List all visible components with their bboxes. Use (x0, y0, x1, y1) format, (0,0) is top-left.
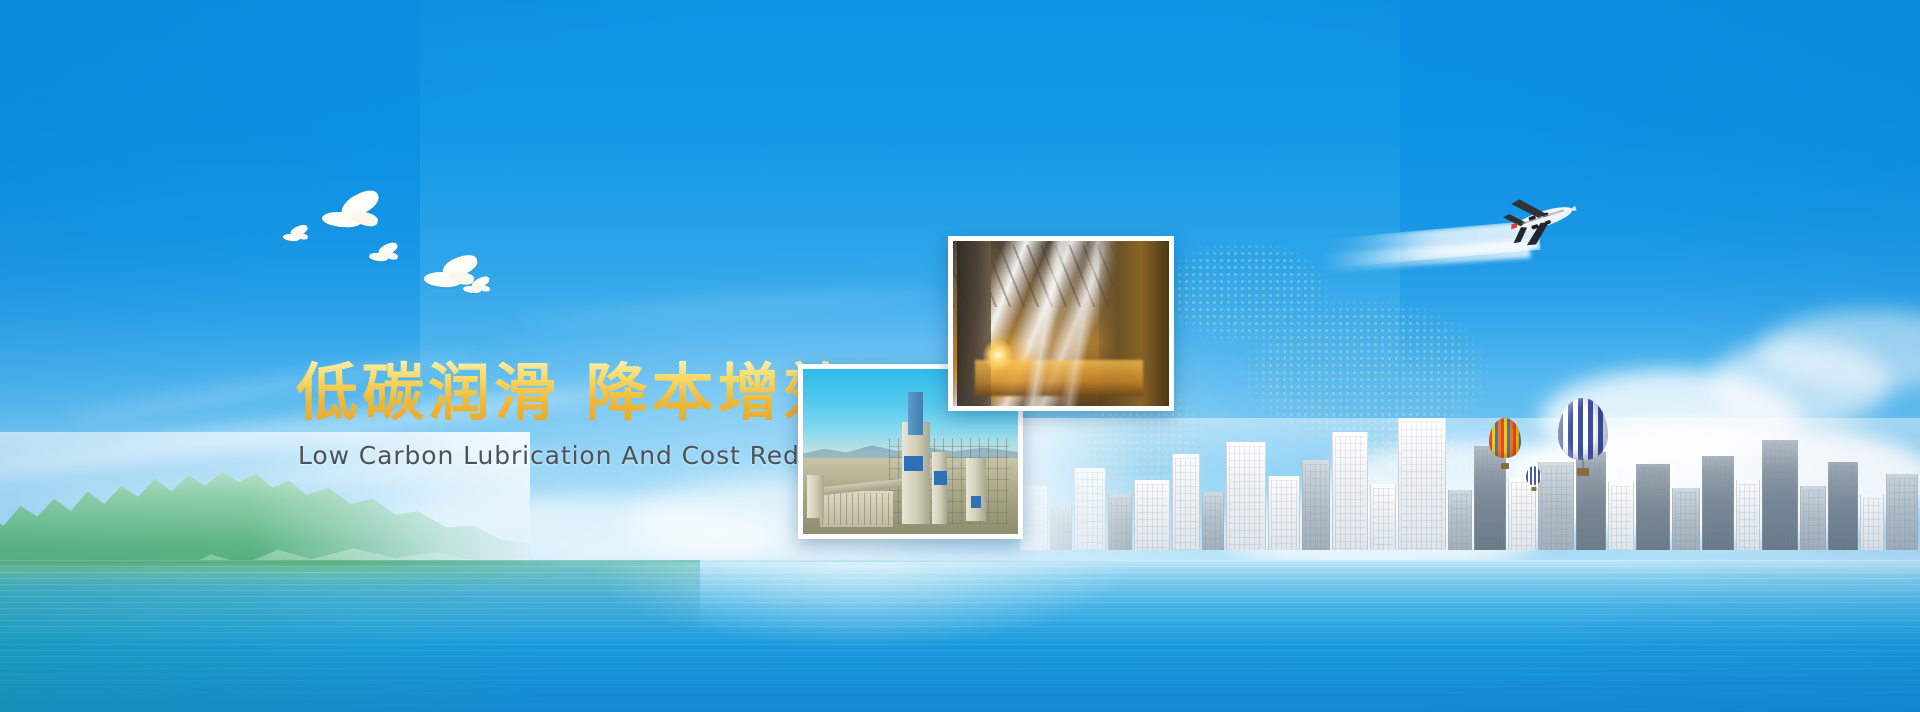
hero-banner: 低碳润滑 降本增效 低碳润滑 降本增效 Low Carbon Lubricati… (0, 0, 1920, 712)
hot-air-balloon-large (1558, 398, 1608, 478)
plant-silo (966, 458, 985, 521)
plant-silo (807, 475, 824, 518)
balloon-basket (1577, 468, 1589, 476)
water-highlight-glow (480, 562, 1240, 712)
photo-steel-mill (953, 241, 1169, 406)
page-title: 低碳润滑 降本增效 (296, 360, 850, 425)
plant-silo (932, 452, 947, 525)
balloon-basket (1501, 463, 1509, 469)
photo-card-steel-mill[interactable] (948, 236, 1174, 411)
plant-blue-hopper (971, 496, 982, 508)
balloon-envelope (1526, 466, 1541, 485)
plant-low-building (820, 491, 893, 527)
balloon-envelope (1558, 398, 1608, 460)
mill-light-beams (953, 241, 1169, 406)
dove-5-icon (462, 278, 492, 297)
dove-2-icon (282, 226, 310, 244)
plant-silo (902, 422, 930, 524)
steel-mill-image (953, 241, 1169, 406)
dove-1-icon (320, 192, 384, 236)
plant-blue-hopper (934, 471, 947, 484)
city-skyline (1020, 418, 1920, 550)
airplane-icon (1500, 190, 1580, 252)
skyline-haze (1020, 418, 1920, 550)
dove-3-icon (368, 244, 400, 264)
balloon-basket (1531, 487, 1536, 491)
plant-preheater-tower (908, 392, 923, 435)
hot-air-balloon-small (1526, 466, 1541, 492)
title-wrapper: 低碳润滑 降本增效 低碳润滑 降本增效 (296, 360, 850, 425)
plant-blue-hopper (904, 456, 923, 471)
balloon-envelope (1489, 418, 1521, 458)
hot-air-balloon-medium (1489, 418, 1521, 470)
